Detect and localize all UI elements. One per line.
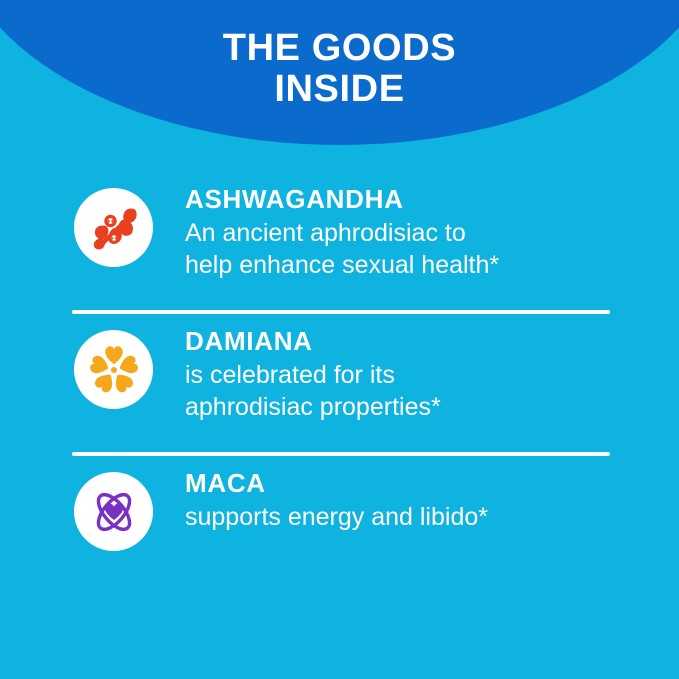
list-item: ASHWAGANDHA An ancient aphrodisiac to he… xyxy=(0,182,679,302)
plant-branch-icon xyxy=(86,200,142,256)
list-item: DAMIANA is celebrated for its aphrodisia… xyxy=(0,324,679,444)
ingredient-text-block: DAMIANA is celebrated for its aphrodisia… xyxy=(153,324,441,423)
icon-badge-maca xyxy=(74,472,153,551)
ingredient-text-block: MACA supports energy and libido* xyxy=(153,466,488,533)
page-title: THE GOODS INSIDE xyxy=(0,28,679,110)
divider-1 xyxy=(72,310,610,314)
ingredient-name: MACA xyxy=(185,468,488,500)
list-item: MACA supports energy and libido* xyxy=(0,466,679,586)
goods-inside-panel: THE GOODS INSIDE xyxy=(0,0,679,679)
ingredient-description: is celebrated for its aphrodisiac proper… xyxy=(185,359,441,423)
ingredient-list: ASHWAGANDHA An ancient aphrodisiac to he… xyxy=(0,182,679,586)
ingredient-description: An ancient aphrodisiac to help enhance s… xyxy=(185,217,499,281)
ingredient-name: ASHWAGANDHA xyxy=(185,184,499,216)
icon-badge-ashwagandha xyxy=(74,188,153,267)
ingredient-text-block: ASHWAGANDHA An ancient aphrodisiac to he… xyxy=(153,182,499,281)
divider-2 xyxy=(72,452,610,456)
ingredient-name: DAMIANA xyxy=(185,326,441,358)
icon-badge-damiana xyxy=(74,330,153,409)
ingredient-description: supports energy and libido* xyxy=(185,501,488,533)
atom-heart-icon xyxy=(86,484,142,540)
flower-icon xyxy=(87,343,141,397)
